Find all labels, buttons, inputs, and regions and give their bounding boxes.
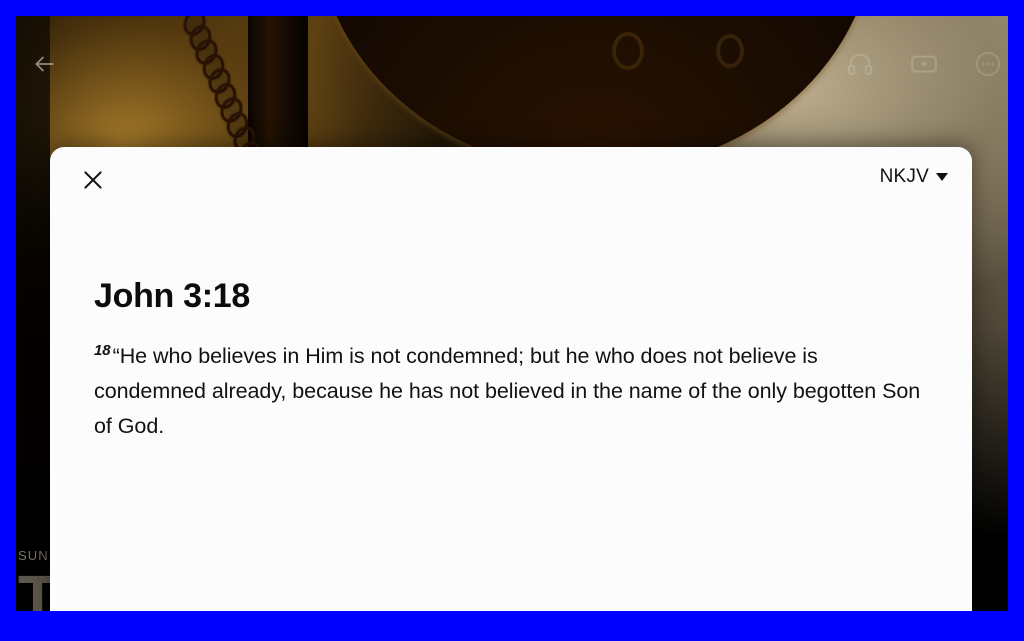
- verse-reference-title: John 3:18: [94, 213, 928, 315]
- verse-body-text: “He who believes in Him is not condemned…: [94, 344, 920, 438]
- verse-passage: 18“He who believes in Him is not condemn…: [94, 315, 928, 444]
- verse-number: 18: [94, 342, 111, 359]
- watch-video-button[interactable]: [902, 44, 946, 88]
- app-viewport: SUN T: [16, 16, 1008, 611]
- video-icon: [909, 49, 939, 84]
- screen-frame: SUN T: [0, 0, 1024, 641]
- close-icon: [80, 167, 106, 198]
- headphones-icon: [846, 50, 874, 83]
- background-kicker-text: SUN: [18, 548, 49, 563]
- chevron-down-icon: [936, 173, 948, 181]
- more-options-button[interactable]: [966, 44, 1008, 88]
- bible-version-label: NKJV: [880, 166, 929, 188]
- verse-modal-sheet: NKJV John 3:18 18“He who believes in Him…: [50, 147, 972, 611]
- listen-audio-button[interactable]: [838, 44, 882, 88]
- bible-version-selector[interactable]: NKJV: [880, 166, 948, 188]
- verse-modal-body: John 3:18 18“He who believes in Him is n…: [50, 213, 972, 444]
- back-button[interactable]: [24, 46, 64, 86]
- background-left-shadow: [16, 16, 50, 611]
- arrow-left-icon: [31, 51, 57, 82]
- close-button[interactable]: [76, 165, 110, 199]
- verse-modal-header: NKJV: [50, 147, 972, 213]
- more-options-icon: [974, 50, 1002, 83]
- top-app-bar: [16, 16, 1008, 104]
